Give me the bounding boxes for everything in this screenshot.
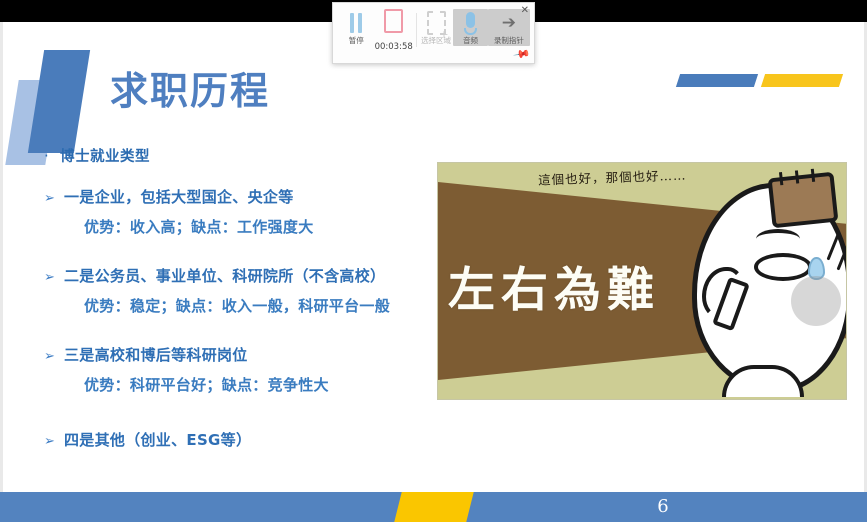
- select-region-icon: [427, 11, 446, 35]
- point-subtext: 优势：科研平台好；缺点：竞争性大: [84, 374, 434, 395]
- list-item: ➢ 二是公务员、事业单位、科研院所（不含高校） 优势：稳定；缺点：收入一般，科研…: [44, 265, 434, 316]
- lead-bullet: · 博士就业类型: [44, 145, 434, 166]
- point-heading: ➢ 二是公务员、事业单位、科研院所（不含高校）: [44, 265, 434, 286]
- page-number: 6: [648, 496, 678, 517]
- footer-accent-yellow: [394, 492, 473, 522]
- arrow-bullet-icon: ➢: [44, 270, 64, 286]
- decorative-slab-dark: [28, 50, 90, 153]
- timer-value: 00:03:58: [375, 42, 413, 52]
- list-item: ➢ 四是其他（创业、ESG等）: [44, 429, 434, 450]
- pause-icon: [348, 11, 364, 35]
- point-title: 二是公务员、事业单位、科研院所（不含高校）: [64, 265, 385, 286]
- arrow-bullet-icon: ➢: [44, 434, 64, 450]
- audio-label: 音频: [463, 37, 478, 46]
- close-icon[interactable]: ✕: [521, 6, 529, 16]
- slide-left-border: [0, 22, 3, 522]
- face-eyebrow: [756, 229, 800, 249]
- select-region-button[interactable]: 选择区域: [419, 9, 453, 46]
- point-title: 四是其他（创业、ESG等）: [64, 429, 251, 450]
- slide-body: · 博士就业类型 ➢ 一是企业，包括大型国企、央企等 优势：收入高；缺点：工作强…: [44, 145, 434, 465]
- stop-square-icon[interactable]: [384, 9, 403, 33]
- point-title: 三是高校和博后等科研岗位: [64, 344, 248, 365]
- point-subtext: 优势：收入高；缺点：工作强度大: [84, 216, 434, 237]
- point-heading: ➢ 四是其他（创业、ESG等）: [44, 429, 434, 450]
- audio-toggle-button[interactable]: 音频: [453, 9, 487, 46]
- recording-timer: 00:03:58: [373, 9, 414, 52]
- cursor-click-highlight: [791, 276, 841, 326]
- pin-icon[interactable]: 📌: [513, 46, 531, 63]
- illustration-caption: 這個也好，那個也好……: [538, 164, 687, 188]
- powerpoint-slide: 求职历程 · 博士就业类型 ➢ 一是企业，包括大型国企、央企等 优势：收入高；缺…: [0, 22, 867, 522]
- point-subtext: 优势：稳定；缺点：收入一般，科研平台一般: [84, 295, 434, 316]
- page-title: 求职历程: [110, 72, 270, 110]
- bullet-dot-icon: ·: [44, 149, 60, 164]
- point-heading: ➢ 一是企业，包括大型国企、央企等: [44, 186, 434, 207]
- face-eye: [754, 253, 812, 281]
- list-item: ➢ 三是高校和博后等科研岗位 优势：科研平台好；缺点：竞争性大: [44, 344, 434, 395]
- arrow-bullet-icon: ➢: [44, 349, 64, 365]
- slide-footer-bar: 6: [0, 492, 867, 522]
- cartoon-illustration: 這個也好，那個也好…… 左右為難: [438, 163, 846, 399]
- microphone-icon: [464, 11, 477, 35]
- point-title: 一是企业，包括大型国企、央企等: [64, 186, 294, 207]
- screen-recorder-toolbar[interactable]: 暂停 00:03:58 选择区域 音频 ➔ 录制指针 ✕ 📌: [332, 2, 535, 64]
- point-heading: ➢ 三是高校和博后等科研岗位: [44, 344, 434, 365]
- list-item: ➢ 一是企业，包括大型国企、央企等 优势：收入高；缺点：工作强度大: [44, 186, 434, 237]
- toolbar-divider: [416, 13, 417, 47]
- pause-button[interactable]: 暂停: [339, 9, 373, 46]
- arrow-bullet-icon: ➢: [44, 191, 64, 207]
- face-patch: [768, 172, 839, 229]
- pause-label: 暂停: [349, 37, 364, 46]
- cursor-arrow-icon: ➔: [502, 11, 516, 35]
- accent-bar-blue: [676, 74, 758, 87]
- illustration-headline: 左右為難: [448, 251, 660, 320]
- accent-bar-yellow: [761, 74, 843, 87]
- lead-bullet-label: 博士就业类型: [60, 145, 150, 166]
